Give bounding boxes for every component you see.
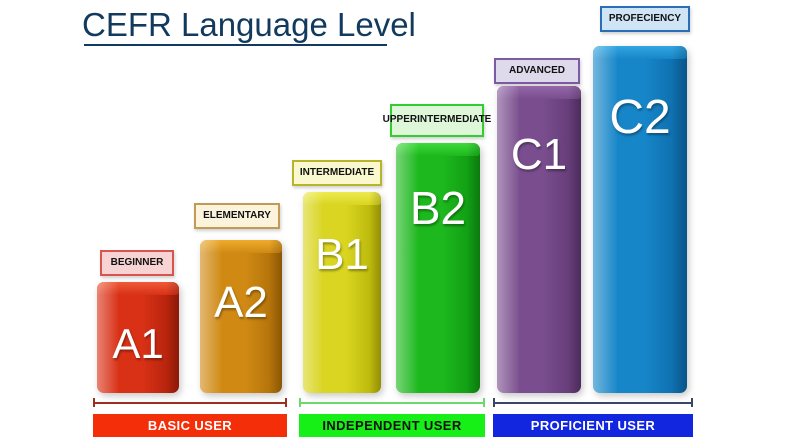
bar-highlight-b2 [396,143,418,393]
page-title: CEFR Language Level [82,6,416,44]
callout-line: PROFECIENCY [609,14,681,25]
callout-line: INTERMEDIATE [300,168,374,179]
bar-label-c2: C2 [593,90,687,145]
bar-top-face-a1 [97,282,179,295]
bar-c2: C2 [593,46,687,393]
callout-line: UPPER [383,115,417,126]
callout-line: INTERMEDIATE [417,115,491,126]
bracket-line [299,402,485,404]
bar-label-b1: B1 [303,230,381,280]
bar-top-face-a2 [200,240,282,253]
bracket-independent-user [299,398,485,407]
bracket-proficient-user [493,398,693,407]
bar-b1: B1 [303,192,381,393]
bar-shadow-a2 [269,240,282,393]
level-callout-a2: ELEMENTARY [194,203,280,229]
bar-a2: A2 [200,240,282,393]
legend-proficient-user: PROFICIENT USER [493,414,693,437]
level-callout-c2: PROFECIENCY [600,6,690,32]
bar-shadow-a1 [166,282,179,393]
callout-line: BEGINNER [111,258,164,269]
bar-shadow-b2 [467,143,480,393]
bar-highlight-b1 [303,192,323,393]
bar-shadow-b1 [369,192,381,393]
bar-label-a2: A2 [200,278,282,328]
bar-highlight-c2 [593,46,617,393]
level-callout-c1: ADVANCED [494,58,580,84]
bracket-cap-right [691,398,693,407]
bracket-cap-right [483,398,485,407]
bracket-basic-user [93,398,287,407]
bar-label-b2: B2 [396,181,480,235]
bracket-cap-right [285,398,287,407]
bracket-line [493,402,693,404]
bar-a1: A1 [97,282,179,393]
bar-top-face-b1 [303,192,381,205]
bar-label-c1: C1 [497,130,581,180]
bar-top-face-b2 [396,143,480,156]
bar-top-face-c1 [497,86,581,99]
bar-label-a1: A1 [97,320,179,368]
bar-shadow-c1 [568,86,581,393]
bar-highlight-a2 [200,240,221,393]
bar-highlight-a1 [97,282,118,393]
callout-line: ELEMENTARY [203,211,271,222]
level-callout-b2: UPPERINTERMEDIATE [390,104,484,137]
cefr-language-level-chart: CEFR Language Level BEGINNER ELEMENTARY … [0,0,800,445]
bar-shadow-c2 [672,46,687,393]
bar-highlight-c1 [497,86,519,393]
legend-basic-user: BASIC USER [93,414,287,437]
bar-top-face-c2 [593,46,687,59]
title-underline [84,44,387,46]
bracket-line [93,402,287,404]
level-callout-b1: INTERMEDIATE [292,160,382,186]
level-callout-a1: BEGINNER [100,250,174,276]
legend-independent-user: INDEPENDENT USER [299,414,485,437]
bar-c1: C1 [497,86,581,393]
bar-b2: B2 [396,143,480,393]
callout-line: ADVANCED [509,66,565,77]
